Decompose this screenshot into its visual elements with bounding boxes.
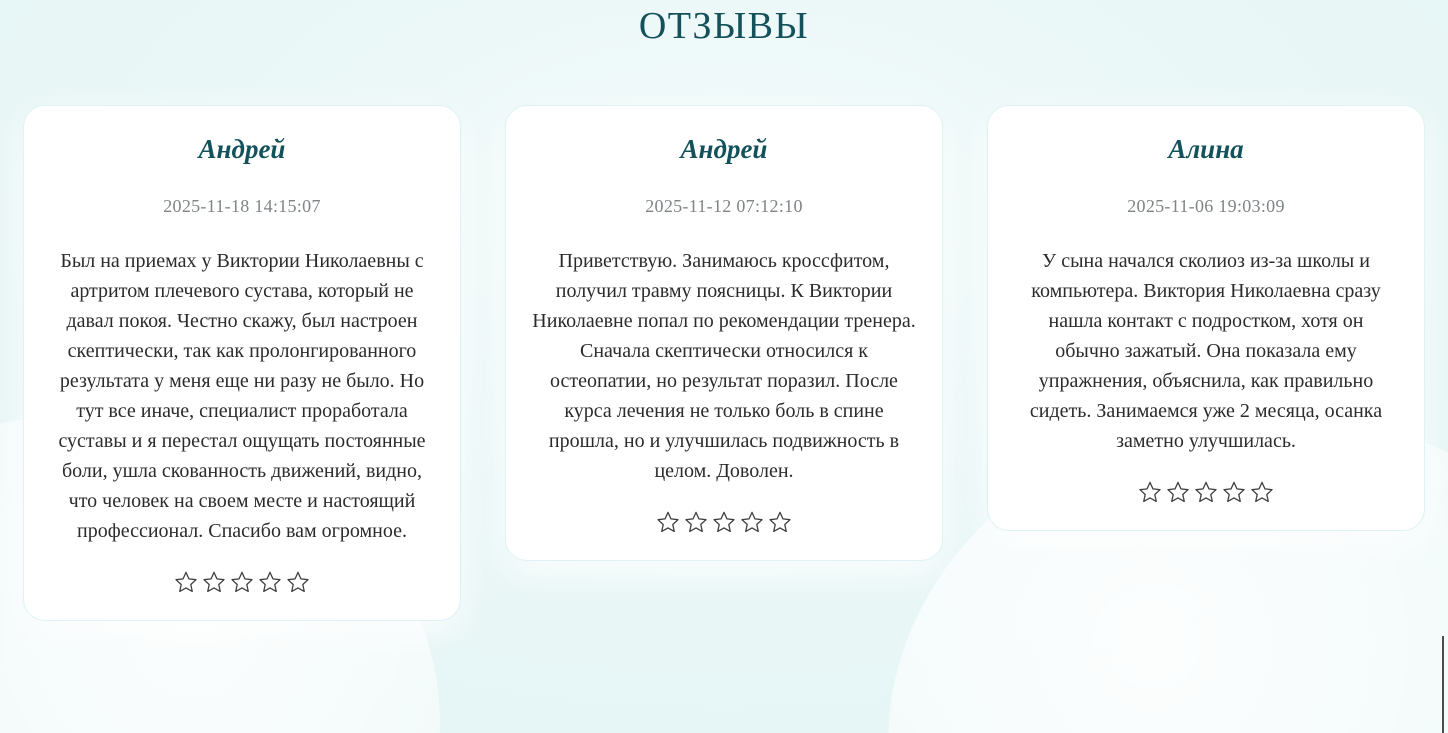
reviews-section: ОТЗЫВЫ Андрей2025-11-18 14:15:07Был на п…	[0, 0, 1448, 733]
reviews-list: Андрей2025-11-18 14:15:07Был на приемах …	[0, 105, 1448, 621]
star-outline-icon[interactable]	[656, 510, 680, 534]
review-card: Андрей2025-11-12 07:12:10Приветствую. За…	[505, 105, 943, 561]
rating-stars[interactable]	[1138, 480, 1274, 504]
review-date: 2025-11-06 19:03:09	[1127, 194, 1285, 218]
star-outline-icon[interactable]	[230, 570, 254, 594]
review-text: Приветствую. Занимаюсь кроссфитом, получ…	[532, 246, 916, 486]
vertical-scrollbar-track[interactable]	[1442, 0, 1448, 733]
reviewer-name: Андрей	[199, 132, 286, 166]
star-outline-icon[interactable]	[174, 570, 198, 594]
rating-stars[interactable]	[174, 570, 310, 594]
review-text: Был на приемах у Виктории Николаевны с а…	[50, 246, 434, 546]
reviewer-name: Андрей	[681, 132, 768, 166]
star-outline-icon[interactable]	[1250, 480, 1274, 504]
page-title: ОТЗЫВЫ	[0, 2, 1448, 50]
star-outline-icon[interactable]	[684, 510, 708, 534]
vertical-scrollbar-thumb[interactable]	[1442, 636, 1444, 733]
star-outline-icon[interactable]	[1138, 480, 1162, 504]
review-date: 2025-11-18 14:15:07	[163, 194, 321, 218]
star-outline-icon[interactable]	[740, 510, 764, 534]
reviewer-name: Алина	[1168, 132, 1243, 166]
star-outline-icon[interactable]	[1166, 480, 1190, 504]
star-outline-icon[interactable]	[286, 570, 310, 594]
review-text: У сына начался сколиоз из-за школы и ком…	[1014, 246, 1398, 456]
star-outline-icon[interactable]	[768, 510, 792, 534]
review-card: Алина2025-11-06 19:03:09У сына начался с…	[987, 105, 1425, 531]
review-date: 2025-11-12 07:12:10	[645, 194, 803, 218]
star-outline-icon[interactable]	[1222, 480, 1246, 504]
star-outline-icon[interactable]	[258, 570, 282, 594]
review-card: Андрей2025-11-18 14:15:07Был на приемах …	[23, 105, 461, 621]
star-outline-icon[interactable]	[712, 510, 736, 534]
star-outline-icon[interactable]	[202, 570, 226, 594]
rating-stars[interactable]	[656, 510, 792, 534]
star-outline-icon[interactable]	[1194, 480, 1218, 504]
